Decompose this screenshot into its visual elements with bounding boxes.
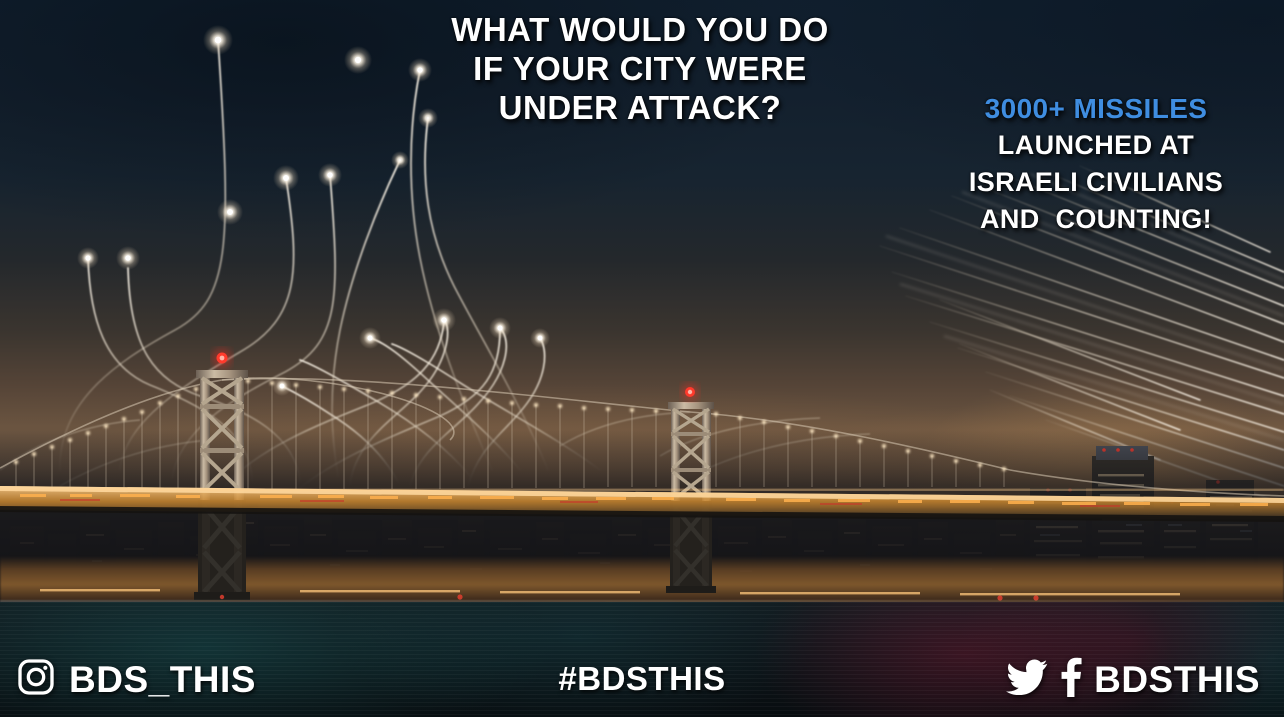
facebook-f-icon xyxy=(1059,657,1083,702)
bridge-deck xyxy=(0,486,1284,522)
headline-accent-line: 3000+ MISSILES xyxy=(908,90,1284,127)
headline-question: WHAT WOULD YOU DO IF YOUR CITY WERE UNDE… xyxy=(372,10,908,127)
bridge-tower-right xyxy=(666,383,716,593)
headline-line-3: ISRAELI CIVILIANS xyxy=(908,164,1284,201)
headline-missile-count: 3000+ MISSILES LAUNCHED AT ISRAELI CIVIL… xyxy=(908,90,1284,238)
poster-root: WHAT WOULD YOU DO IF YOUR CITY WERE UNDE… xyxy=(0,0,1284,717)
social-handle-group[interactable]: BDSTHIS xyxy=(1006,657,1260,702)
headline-line-4: AND COUNTING! xyxy=(908,201,1284,238)
headline-line-2: LAUNCHED AT xyxy=(908,127,1284,164)
hashtag-text: #BDSTHIS xyxy=(558,660,725,697)
twitter-bird-icon xyxy=(1006,659,1048,700)
social-handle-text: BDSTHIS xyxy=(1094,658,1260,702)
bridge-tower-left xyxy=(194,348,250,600)
